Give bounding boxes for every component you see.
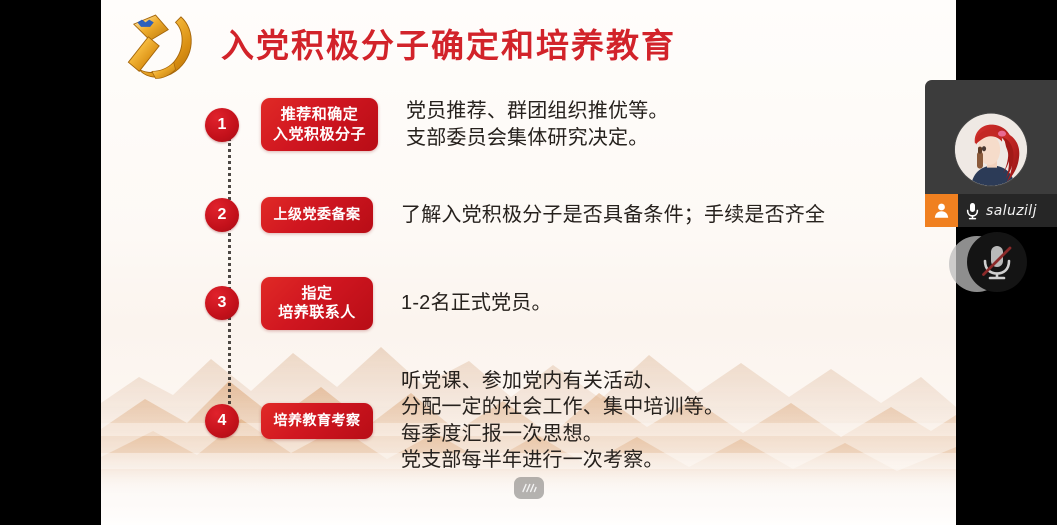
step-number-badge: 1 [205, 108, 239, 142]
step-label-line2: 培养联系人 [273, 303, 361, 322]
step-label-chip: 上级党委备案 [261, 197, 373, 233]
avatar [955, 113, 1027, 185]
step-description: 听党课、参加党内有关活动、 分配一定的社会工作、集中培训等。 每季度汇报一次思想… [401, 368, 724, 474]
step-label-line1: 指定 [273, 284, 361, 303]
page-title: 入党积极分子确定和培养教育 [221, 29, 676, 62]
step-label-chip: 培养教育考察 [261, 403, 373, 439]
step-number-badge: 4 [205, 404, 239, 438]
participant-video-tile[interactable]: saluzilj [925, 80, 1057, 227]
step-description: 党员推荐、群团组织推优等。 支部委员会集体研究决定。 [406, 98, 669, 151]
step-label-line1: 推荐和确定 [273, 105, 366, 124]
video-tile-footer: saluzilj [925, 194, 1057, 227]
step-row: 1 推荐和确定 入党积极分子 党员推荐、群团组织推优等。 支部委员会集体研究决定… [205, 98, 945, 151]
step-label-chip: 推荐和确定 入党积极分子 [261, 98, 378, 150]
step-number-badge: 2 [205, 198, 239, 232]
screen-share-view: 入党积极分子确定和培养教育 1 推荐和确定 入党积极分子 党员推荐、群团组织推优… [0, 0, 1057, 525]
microphone-icon [966, 202, 979, 220]
step-description: 了解入党积极分子是否具备条件；手续是否齐全 [401, 202, 825, 229]
step-row: 2 上级党委备案 了解入党积极分子是否具备条件；手续是否齐全 [205, 189, 945, 241]
step-number-badge: 3 [205, 286, 239, 320]
step-label-line1: 培养教育考察 [273, 412, 361, 430]
slide-header: 入党积极分子确定和培养教育 [101, 6, 676, 84]
participant-name: saluzilj [986, 203, 1037, 219]
steps-timeline: 1 推荐和确定 入党积极分子 党员推荐、群团组织推优等。 支部委员会集体研究决定… [205, 98, 945, 474]
step-row: 3 指定 培养联系人 1-2名正式党员。 [205, 277, 945, 329]
step-label-line2: 入党积极分子 [273, 125, 366, 144]
drag-grip-icon[interactable] [514, 477, 544, 499]
microphone-muted-button[interactable] [967, 232, 1027, 292]
step-row: 4 培养教育考察 听党课、参加党内有关活动、 分配一定的社会工作、集中培训等。 … [205, 368, 945, 474]
participant-name-strip: saluzilj [958, 194, 1057, 227]
party-emblem-hammer-sickle-icon [115, 6, 207, 84]
letterbox-bar-left [0, 0, 101, 525]
step-label-line1: 上级党委备案 [273, 206, 361, 224]
step-description: 1-2名正式党员。 [401, 290, 552, 317]
host-person-icon [925, 194, 958, 227]
step-label-chip: 指定 培养联系人 [261, 277, 373, 329]
presentation-slide: 入党积极分子确定和培养教育 1 推荐和确定 入党积极分子 党员推荐、群团组织推优… [101, 0, 956, 525]
